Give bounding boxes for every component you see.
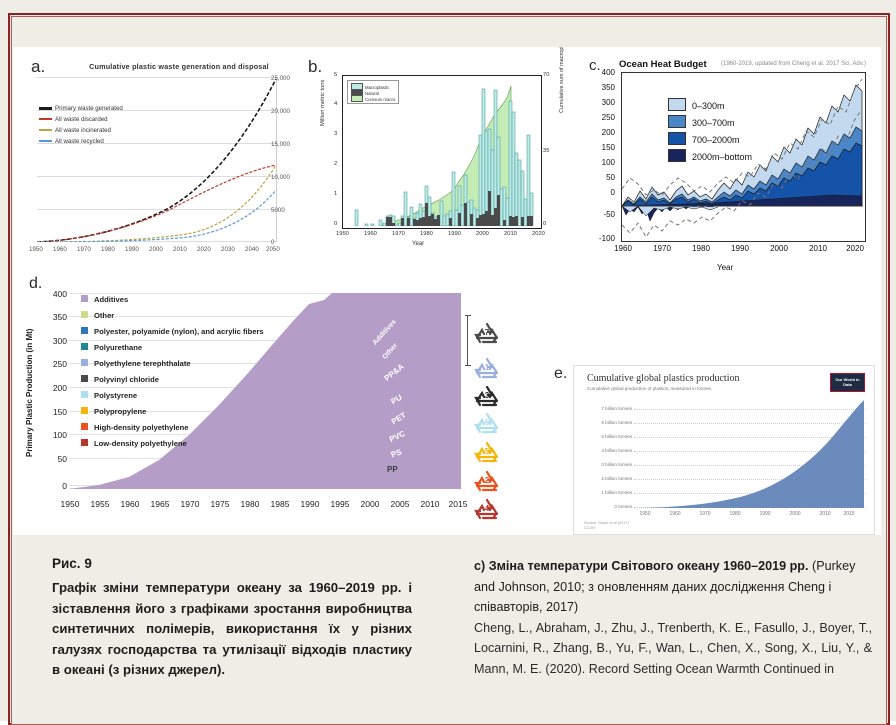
chart-a-xtick: 2010 (173, 246, 187, 253)
chart-c-ytick: 400 (585, 68, 615, 77)
chart-a-ytick: 25,000 (271, 75, 290, 82)
chart-b-ytick: 2 (334, 161, 337, 167)
legend-item: 300–700m (668, 115, 752, 132)
chart-b-ytick-right: 70 (543, 72, 549, 78)
chart-d-ytick: 200 (41, 383, 67, 393)
chart-c-ytick: -100 (585, 234, 615, 243)
chart-e-ytick: 7 billion tonnes (580, 406, 632, 411)
chart-a-plot (37, 77, 277, 242)
chart-e-xtick: 2000 (782, 511, 808, 517)
band-label-hdpe: HDPE (381, 489, 403, 498)
panel-label-e: e. (554, 365, 567, 383)
caption-right: c) Зміна температури Світового океану 19… (474, 556, 872, 721)
chart-b-xtick: 2010 (504, 231, 517, 237)
chart-c-ytick: 150 (585, 143, 615, 152)
figure-panel: a. Cumulative plastic waste generation a… (13, 47, 881, 535)
chart-c-xlabel: Year (717, 263, 733, 272)
recycling-number: 5 (474, 447, 500, 456)
chart-a-ytick: 5000 (271, 207, 285, 214)
chart-b-xtick: 1970 (392, 231, 405, 237)
chart-b-xtick: 1950 (336, 231, 349, 237)
chart-c-ytick: 0 (585, 188, 615, 197)
chart-d-primary-plastic-production: d. Primary Plastic Production (in Mt) 40… (27, 279, 567, 529)
chart-e-ytick: 1 billion tonnes (580, 490, 632, 495)
chart-c-subtitle: (1960-2019, updated from Cheng et al. 20… (721, 61, 866, 67)
chart-b-ytick: 5 (334, 72, 337, 78)
legend-item: Other (81, 311, 264, 327)
our-world-in-data-logo: Our World in Data (830, 373, 865, 392)
recycling-number: 1 (474, 363, 500, 372)
figure-caption-text: Графік зміни температури океану за 1960–… (52, 578, 412, 681)
chart-d-xtick: 1960 (115, 499, 145, 509)
chart-b-ytick: 1 (334, 191, 337, 197)
recycling-icon-7: 7 (474, 321, 500, 345)
chart-a-xtick: 2000 (149, 246, 163, 253)
chart-d-ytick: 0 (41, 481, 67, 491)
chart-e-ytick: 0 tonnes (580, 504, 632, 509)
chart-a-xtick: 1950 (29, 246, 43, 253)
chart-b-ytick: 3 (334, 131, 337, 137)
chart-e-ytick: 4 billion tonnes (580, 448, 632, 453)
panel-label-b: b. (308, 57, 322, 77)
chart-c-xtick: 1970 (647, 244, 677, 253)
chart-d-xtick: 2015 (443, 499, 473, 509)
chart-e-ytick: 3 billion tonnes (580, 462, 632, 467)
panel-c-caption: c) Зміна температури Світового океану 19… (474, 556, 872, 618)
chart-d-xtick: 1955 (85, 499, 115, 509)
chart-c-ytick: 200 (585, 128, 615, 137)
chart-a-legend: Primary waste generated All waste discar… (39, 105, 123, 149)
chart-a-ytick: 20,000 (271, 108, 290, 115)
chart-a-title: Cumulative plastic waste generation and … (79, 62, 279, 71)
chart-a-ytick: 0 (271, 239, 274, 246)
recycling-icon-3: 3 (474, 384, 500, 408)
chart-e-xtick: 2010 (812, 511, 838, 517)
recycling-number: 7 (474, 328, 500, 337)
legend-item: Polyester, polyamide (nylon), and acryli… (81, 327, 264, 343)
chart-c-xtick: 1990 (725, 244, 755, 253)
figure-page: a. Cumulative plastic waste generation a… (0, 0, 896, 721)
recycling-icon-2: 2 (474, 469, 500, 493)
chart-d-xtick: 2010 (415, 499, 445, 509)
chart-e-xtick: 1950 (632, 511, 658, 517)
chart-b-xtick: 1960 (364, 231, 377, 237)
recycling-number: 6 (474, 418, 500, 427)
chart-b-ytick: 0 (334, 221, 337, 227)
legend-item: Additives (81, 295, 264, 311)
chart-d-ytick: 50 (41, 454, 67, 464)
legend-item: 0–300m (668, 98, 752, 115)
legend-item: 700–2000m (668, 132, 752, 149)
legend-item: Polyvinyl chloride (81, 375, 264, 391)
chart-c-ytick: 250 (585, 113, 615, 122)
chart-a-xtick: 2020 (197, 246, 211, 253)
chart-e-ytick: 5 billion tonnes (580, 434, 632, 439)
chart-a-cumulative-plastic-waste: a. Cumulative plastic waste generation a… (27, 53, 299, 275)
chart-e-xtick: 1960 (662, 511, 688, 517)
chart-b-ytick: 4 (334, 101, 337, 107)
chart-d-xtick: 1965 (145, 499, 175, 509)
recycling-icon-5: 5 (474, 440, 500, 464)
chart-a-xtick: 1970 (77, 246, 91, 253)
reference-text: Cheng, L., Abraham, J., Zhu, J., Trenber… (474, 618, 872, 680)
chart-c-xtick: 2000 (764, 244, 794, 253)
legend-item: High-density polyethylene (81, 423, 264, 439)
chart-c-ocean-heat-budget: c. Ocean Heat Budget (1960-2019, updated… (585, 53, 877, 285)
chart-c-ytick: -50 (585, 210, 615, 219)
chart-e-svg (636, 398, 866, 508)
chart-a-xtick: 2040 (245, 246, 259, 253)
chart-d-legend: Additives Other Polyester, polyamide (ny… (81, 295, 264, 455)
chart-a-xtick: 1960 (53, 246, 67, 253)
legend-item: Polyurethane (81, 343, 264, 359)
legend-item: Primary waste generated (39, 105, 123, 116)
recycling-number: 2 (474, 476, 500, 485)
chart-e-title: Cumulative global plastics production (587, 373, 739, 384)
chart-c-xtick: 2020 (840, 244, 870, 253)
chart-d-xtick: 1975 (205, 499, 235, 509)
legend-item: All waste incinerated (39, 127, 123, 138)
legend-item: All waste recycled (39, 138, 123, 149)
chart-d-ytick: 300 (41, 336, 67, 346)
chart-c-xtick: 2010 (803, 244, 833, 253)
panel-label-a: a. (31, 57, 45, 77)
chart-c-xtick: 1980 (686, 244, 716, 253)
chart-d-ytick: 350 (41, 312, 67, 322)
legend-item: All waste discarded (39, 116, 123, 127)
legend-item: 2000m–bottom (668, 149, 752, 166)
chart-b-macroplastic: b. Million metric tons Cumulative sum of… (306, 53, 578, 275)
chart-d-ytick: 150 (41, 407, 67, 417)
chart-d-ytick: 250 (41, 359, 67, 369)
chart-c-legend: 0–300m 300–700m 700–2000m 2000m–bottom (668, 98, 752, 166)
chart-b-ylabel-right: Cumulative sum of macroplastics (559, 47, 565, 113)
chart-b-xtick: 2020 (532, 231, 545, 237)
legend-item: Low-density polyethylene (81, 439, 264, 455)
chart-b-legend: Macroplastic Natural Cumsum macro (347, 80, 399, 104)
chart-c-ytick: 350 (585, 83, 615, 92)
chart-b-plot: Macroplastic Natural Cumsum macro (342, 75, 542, 229)
chart-d-xtick: 1990 (295, 499, 325, 509)
caption-left: Рис. 9 Графік зміни температури океану з… (52, 556, 412, 681)
legend-item: Polypropylene (81, 407, 264, 423)
chart-b-ytick-right: 0 (543, 221, 546, 227)
chart-c-xtick: 1960 (608, 244, 638, 253)
chart-a-ytick: 15,000 (271, 141, 290, 148)
band-label-pp: PP (387, 465, 398, 474)
chart-e-ytick: 6 billion tonnes (580, 420, 632, 425)
chart-c-ytick: 100 (585, 158, 615, 167)
chart-d-ylabel: Primary Plastic Production (in Mt) (25, 329, 34, 457)
chart-a-xtick: 2050 (266, 246, 280, 253)
chart-e-xtick: 1970 (692, 511, 718, 517)
chart-d-xtick: 1950 (55, 499, 85, 509)
chart-b-xlabel: Year (412, 241, 424, 247)
chart-c-title: Ocean Heat Budget (619, 59, 707, 70)
recycling-icon-4: 4 (474, 497, 500, 521)
chart-a-ytick: 10,000 (271, 174, 290, 181)
chart-e-subtitle: Cumulative global production of plastics… (587, 386, 712, 391)
legend-item: Polyethylene terephthalate (81, 359, 264, 375)
chart-e-ytick: 2 billion tonnes (580, 476, 632, 481)
chart-d-xtick: 1980 (235, 499, 265, 509)
license-text: CC BY (584, 526, 629, 531)
chart-e-cumulative-global-plastics: Cumulative global plastics production Cu… (573, 365, 875, 535)
chart-a-xtick: 1990 (125, 246, 139, 253)
legend-item: Polystyrene (81, 391, 264, 407)
chart-e-source: Source: Geyer et al (2017) CC BY (584, 521, 629, 531)
chart-d-xtick: 2000 (355, 499, 385, 509)
recycling-number: 4 (474, 504, 500, 513)
recycling-icon-6: 6 (474, 411, 500, 435)
band-label-ldpe: LDPE (383, 515, 404, 524)
panel-c-caption-bold: c) Зміна температури Світового океану 19… (474, 559, 809, 573)
chart-b-ylabel-left: Million metric tons (320, 80, 326, 126)
recycling-icon-1: 1 (474, 356, 500, 380)
chart-e-xtick: 1990 (752, 511, 778, 517)
chart-b-xtick: 2000 (476, 231, 489, 237)
legend-item: Cumsum macro (351, 95, 395, 101)
chart-d-xtick: 2005 (385, 499, 415, 509)
chart-b-xtick: 1990 (448, 231, 461, 237)
chart-c-plot: 0–300m 300–700m 700–2000m 2000m–bottom (621, 72, 866, 242)
figure-number: Рис. 9 (52, 556, 412, 571)
chart-a-svg (37, 77, 277, 242)
chart-e-xtick: 2015 (836, 511, 862, 517)
group-bracket (467, 315, 468, 365)
chart-a-xtick: 2030 (221, 246, 235, 253)
chart-c-ytick: 50 (585, 173, 615, 182)
chart-d-xtick: 1995 (325, 499, 355, 509)
chart-d-xtick: 1985 (265, 499, 295, 509)
chart-b-xtick: 1980 (420, 231, 433, 237)
chart-e-xtick: 1980 (722, 511, 748, 517)
chart-d-xtick: 1970 (175, 499, 205, 509)
chart-a-xtick: 1980 (101, 246, 115, 253)
chart-d-ytick: 100 (41, 430, 67, 440)
chart-b-ytick-right: 35 (543, 148, 549, 154)
chart-d-ytick: 400 (41, 289, 67, 299)
chart-c-ytick: 300 (585, 98, 615, 107)
recycling-number: 3 (474, 391, 500, 400)
brand-text: Our World in Data (831, 374, 864, 387)
